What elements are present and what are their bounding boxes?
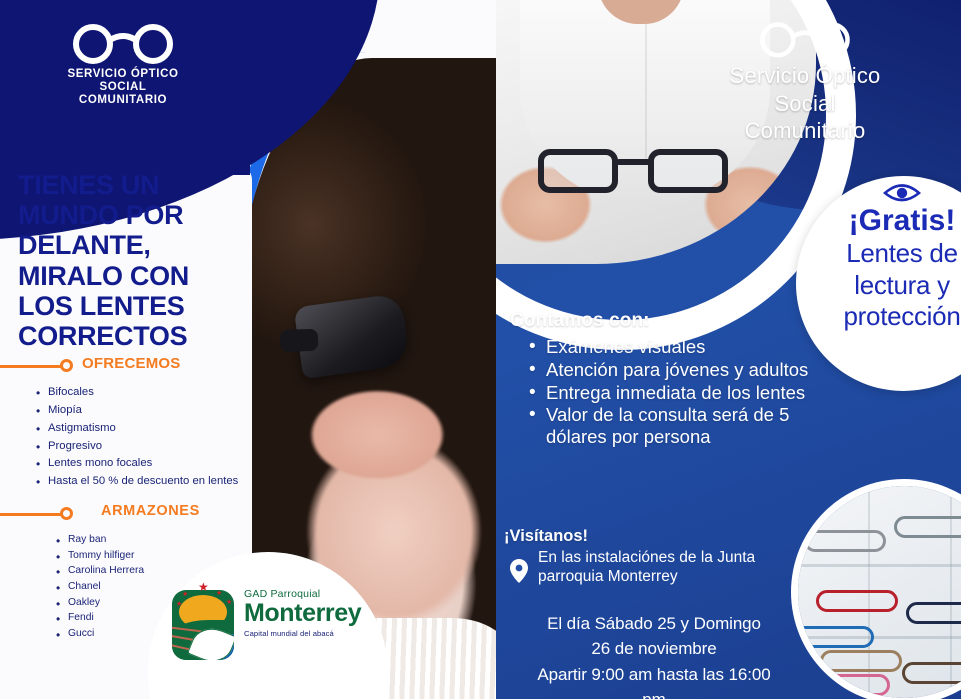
visit-address-line2: parroquia Monterrey [538,567,804,586]
brand-logo-right: Servicio Óptico Social Comunitario [655,20,955,145]
municipal-name: Monterrey [244,601,384,626]
section-armazones-title: ARMAZONES [101,503,200,519]
brand-right-line2: Social [655,90,955,118]
visit-dates: El día Sábado 25 y Domingo 26 de noviemb… [504,611,804,699]
list-item: Entrega inmediata de los lentes [546,382,810,404]
municipal-logo-text: GAD Parroquial Monterrey Capital mundial… [244,588,384,638]
offer-line2: lectura y [802,271,961,300]
brand-right-line3: Comunitario [655,117,955,145]
section-ofrecemos: OFRECEMOS Bifocales Miopía Astigmatismo … [0,355,250,491]
visit-address-line1: En las instalaciónes de la Junta [538,548,804,567]
brand-logo-left: SERVICIO ÓPTICO SOCIAL COMUNITARIO [48,22,198,108]
frame-pink [808,674,890,696]
offer-title: ¡Gratis! [802,206,961,236]
section-bullet-circle-icon [60,507,73,520]
flyer-root: SERVICIO ÓPTICO SOCIAL COMUNITARIO TIENE… [0,0,961,699]
brand-right-line1: Servicio Óptico [655,62,955,90]
brand-logo-line2: SOCIAL [48,81,198,94]
list-item: Hasta el 50 % de descuento en lentes [48,473,250,491]
list-item: Progresivo [48,438,250,456]
visit-block: ¡Visítanos! En las instalaciónes de la J… [504,527,804,699]
list-item: Exámenes visuales [546,336,810,358]
brand-logo-line1: SERVICIO ÓPTICO [48,68,198,81]
offer-line3: protección [802,302,961,331]
date-line1: El día Sábado 25 y Domingo [504,611,804,637]
crest-stars-icon: ★ ★ ★ ★ ★ [176,580,234,602]
frame-thin [820,650,902,672]
eyeglasses-display-rack-photo [798,486,961,698]
date-line4: pm [504,687,804,699]
list-item: Ray ban [68,532,250,548]
visit-title: ¡Visítanos! [504,527,804,546]
list-item: Valor de la consulta será de 5 dólares p… [546,404,810,448]
date-line2: 26 de noviembre [504,636,804,662]
left-headline: TIENES UN MUNDO POR DELANTE, MIRALO CON … [18,170,238,351]
list-item: Astigmatismo [48,420,250,438]
rack-shelf [798,564,961,567]
frame-teal [894,516,961,538]
eyeglasses-icon [757,20,853,58]
municipal-logo: ★ ★ ★ ★ ★ GAD Parroquial Monterrey Capit… [172,588,382,666]
section-bullet-circle-icon [60,359,73,372]
services-title: Contamos con: [510,310,810,332]
section-ofrecemos-header: OFRECEMOS [0,355,250,377]
map-pin-icon [510,559,528,583]
frame-navy [906,602,961,624]
ofrecemos-list: Bifocales Miopía Astigmatismo Progresivo… [0,384,250,491]
right-panel: Tu salud visual nos importa Servicio Ópt… [496,0,961,699]
brand-logo-line3: COMUNITARIO [48,94,198,107]
eye-icon [883,182,921,204]
section-ofrecemos-title: OFRECEMOS [82,355,180,372]
offer-line1: Lentes de [802,239,961,268]
visit-address-row: En las instalaciónes de la Junta parroqu… [504,548,804,587]
services-list: Exámenes visuales Atención para jóvenes … [510,336,810,448]
offer-content: ¡Gratis! Lentes de lectura y protección [802,182,961,331]
list-item: Miopía [48,402,250,420]
date-line3: Apartir 9:00 am hasta las 16:00 [504,662,804,688]
section-rule [0,365,62,368]
services-block: Contamos con: Exámenes visuales Atención… [510,310,810,449]
list-item: Atención para jóvenes y adultos [546,359,810,381]
left-panel: SERVICIO ÓPTICO SOCIAL COMUNITARIO TIENE… [0,0,496,699]
frame-gray [804,530,886,552]
frame-red [816,590,898,612]
municipal-tagline: Capital mundial del abacá [244,629,384,638]
section-rule [0,513,62,516]
list-item: Lentes mono focales [48,455,250,473]
frame-blue [798,626,874,648]
eyeglasses-icon [71,22,175,64]
list-item: Bifocales [48,384,250,402]
frame-brown [902,662,961,684]
section-armazones-header: ARMAZONES [0,503,250,525]
